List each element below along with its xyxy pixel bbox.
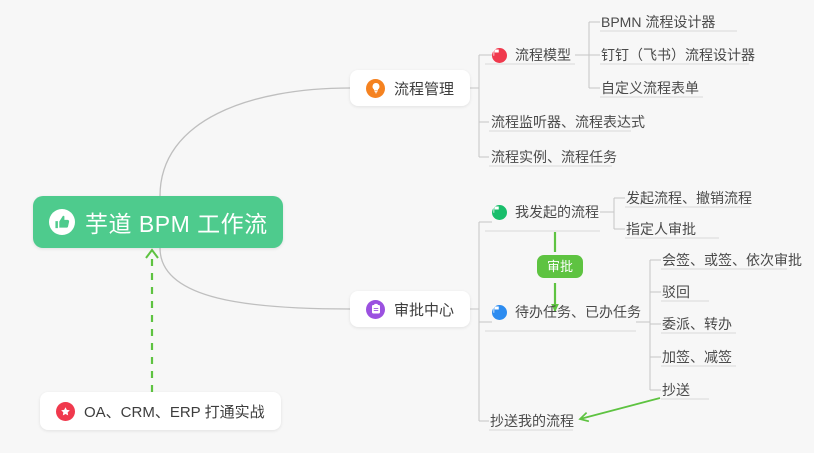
node-label-cc-to-me-process: 抄送我的流程 <box>490 413 574 429</box>
node-label-designated-approver: 指定人审批 <box>626 221 696 237</box>
node-label-bpmn-designer: BPMN 流程设计器 <box>601 14 715 30</box>
clipboard-icon <box>366 300 385 319</box>
root-node[interactable]: 芋道 BPM 工作流 <box>33 196 283 248</box>
node-my-initiated-process[interactable]: 我发起的流程 <box>492 202 599 225</box>
star-icon <box>56 402 75 421</box>
node-custom-process-form[interactable]: 自定义流程表单 <box>601 78 699 101</box>
node-label-process-instance-task: 流程实例、流程任务 <box>491 149 617 165</box>
connector-root-to-approval-center <box>160 248 350 309</box>
node-label-dingtalk-feishu-designer: 钉钉（飞书）流程设计器 <box>601 47 755 63</box>
root-node-label: 芋道 BPM 工作流 <box>85 205 268 239</box>
node-label-start-cancel-process: 发起流程、撤销流程 <box>626 190 752 206</box>
flag-icon <box>492 205 507 220</box>
node-label-delegate-transfer: 委派、转办 <box>662 316 732 332</box>
branch-label-approval-center: 审批中心 <box>394 299 454 320</box>
node-label-process-model: 流程模型 <box>515 47 571 63</box>
footer-node-oa-crm-erp[interactable]: OA、CRM、ERP 打通实战 <box>40 392 281 430</box>
node-process-listener[interactable]: 流程监听器、流程表达式 <box>491 112 645 135</box>
node-process-instance-task[interactable]: 流程实例、流程任务 <box>491 147 617 170</box>
approval-annotation-chip: 审批 <box>537 255 583 278</box>
node-add-remove-sign[interactable]: 加签、减签 <box>662 347 732 370</box>
node-todo-done-task[interactable]: 待办任务、已办任务 <box>492 302 641 325</box>
node-dingtalk-feishu-designer[interactable]: 钉钉（飞书）流程设计器 <box>601 45 755 68</box>
arrowhead-oa-crm-erp <box>146 250 158 258</box>
node-label-add-remove-sign: 加签、减签 <box>662 349 732 365</box>
arrow-cc-to-my-cc-process <box>580 398 660 419</box>
approval-annotation-label: 审批 <box>547 259 573 274</box>
branch-node-approval-center[interactable]: 审批中心 <box>350 291 470 327</box>
node-process-model[interactable]: 流程模型 <box>492 45 571 68</box>
node-cc-to-me-process[interactable]: 抄送我的流程 <box>490 411 574 434</box>
node-label-todo-done-task: 待办任务、已办任务 <box>515 304 641 320</box>
node-reject[interactable]: 驳回 <box>662 282 690 305</box>
branch-label-process-management: 流程管理 <box>394 78 454 99</box>
node-label-custom-process-form: 自定义流程表单 <box>601 80 699 96</box>
mindmap-canvas: 芋道 BPM 工作流 流程管理 流程模型 BPMN 流程设计器 钉钉（飞书）流程… <box>0 0 814 453</box>
flag-icon <box>492 48 507 63</box>
node-label-carbon-copy: 抄送 <box>662 382 690 398</box>
node-start-cancel-process[interactable]: 发起流程、撤销流程 <box>626 188 752 211</box>
node-label-process-listener: 流程监听器、流程表达式 <box>491 114 645 130</box>
node-designated-approver[interactable]: 指定人审批 <box>626 219 696 242</box>
footer-node-label: OA、CRM、ERP 打通实战 <box>84 401 265 422</box>
lightbulb-icon <box>366 79 385 98</box>
node-label-countersign: 会签、或签、依次审批 <box>662 252 802 268</box>
node-countersign[interactable]: 会签、或签、依次审批 <box>662 250 802 273</box>
thumbs-up-icon <box>49 209 75 235</box>
branch-node-process-management[interactable]: 流程管理 <box>350 70 470 106</box>
node-delegate-transfer[interactable]: 委派、转办 <box>662 314 732 337</box>
node-bpmn-designer[interactable]: BPMN 流程设计器 <box>601 12 715 35</box>
flag-icon <box>492 305 507 320</box>
node-label-reject: 驳回 <box>662 284 690 300</box>
node-carbon-copy[interactable]: 抄送 <box>662 380 690 403</box>
node-label-my-initiated-process: 我发起的流程 <box>515 204 599 220</box>
connector-root-to-process-management <box>160 88 350 196</box>
